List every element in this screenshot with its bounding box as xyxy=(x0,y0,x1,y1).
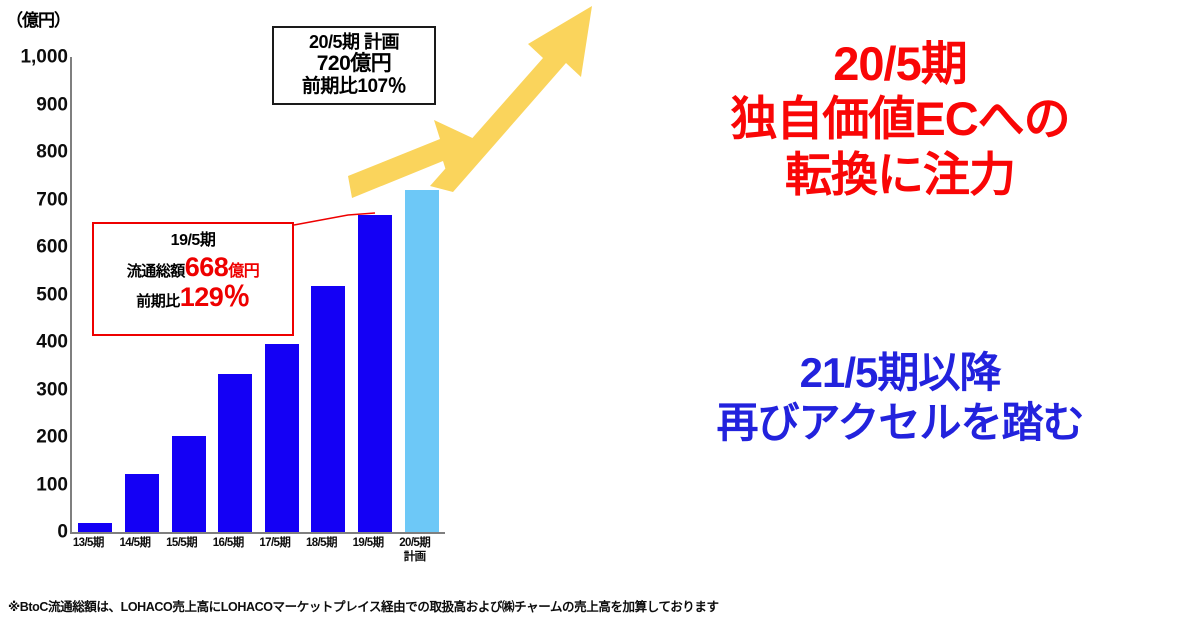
actual-callout-line3-prefix: 前期比 xyxy=(136,293,180,310)
slide-root: （億円） 1,0009008007006005004003002001000 1… xyxy=(0,0,1200,630)
x-tick-sublabel: 計画 xyxy=(391,550,439,564)
x-tick-13-5期: 13/5期 xyxy=(64,536,112,550)
x-tick-17-5期: 17/5期 xyxy=(251,536,299,550)
headline-red: 20/5期 独自価値ECへの 転換に注力 xyxy=(600,36,1200,202)
bar-17-5期 xyxy=(265,344,299,532)
plan-callout-line2: 720億円 xyxy=(278,52,430,76)
footnote: ※BtoC流通総額は、LOHACO売上高にLOHACOマーケットプレイス経由での… xyxy=(8,596,1188,615)
y-tick-1000: 1,000 xyxy=(6,48,68,67)
x-tick-15-5期: 15/5期 xyxy=(158,536,206,550)
plan-callout-line3: 前期比107％ xyxy=(278,76,430,97)
headline-red-line1: 20/5期 xyxy=(600,36,1200,91)
actual-callout-line3-value: 129％ xyxy=(180,282,250,312)
y-tick-600: 600 xyxy=(6,238,68,257)
y-tick-900: 900 xyxy=(6,95,68,114)
bar-15-5期 xyxy=(172,436,206,532)
y-tick-300: 300 xyxy=(6,380,68,399)
headline-red-line3: 転換に注力 xyxy=(600,147,1200,202)
message-panel: 20/5期 独自価値ECへの 転換に注力 21/5期以降 再びアクセルを踏む xyxy=(600,0,1200,630)
plan-callout-line1: 20/5期 計画 xyxy=(278,32,430,52)
y-tick-800: 800 xyxy=(6,143,68,162)
x-tick-14-5期: 14/5期 xyxy=(111,536,159,550)
headline-red-line2: 独自価値ECへの xyxy=(600,91,1200,146)
actual-callout-line2: 流通総額668億円 xyxy=(94,253,292,283)
actual-callout-line2-suffix: 億円 xyxy=(228,263,259,280)
bar-20-5期 xyxy=(405,190,439,532)
headline-blue-line1: 21/5期以降 xyxy=(600,348,1200,398)
x-tick-18-5期: 18/5期 xyxy=(297,536,345,550)
y-axis-unit-label: （億円） xyxy=(6,6,70,31)
bar-16-5期 xyxy=(218,374,252,532)
y-tick-0: 0 xyxy=(6,523,68,542)
actual-callout-line3: 前期比129％ xyxy=(94,283,292,313)
y-tick-500: 500 xyxy=(6,285,68,304)
actual-callout-line2-prefix: 流通総額 xyxy=(127,263,185,280)
y-axis-tick-labels: 1,0009008007006005004003002001000 xyxy=(0,57,68,532)
momentum-arrow-upper xyxy=(430,6,592,192)
headline-blue-line2: 再びアクセルを踏む xyxy=(600,398,1200,448)
y-tick-200: 200 xyxy=(6,428,68,447)
y-tick-400: 400 xyxy=(6,333,68,352)
y-tick-100: 100 xyxy=(6,475,68,494)
bar-14-5期 xyxy=(125,474,159,532)
actual-callout-line1: 19/5期 xyxy=(94,229,292,253)
x-axis-tick-labels: 13/5期14/5期15/5期16/5期17/5期18/5期19/5期20/5期… xyxy=(72,536,445,582)
headline-blue: 21/5期以降 再びアクセルを踏む xyxy=(600,348,1200,449)
x-axis-line xyxy=(70,532,445,534)
actual-callout-line2-value: 668 xyxy=(185,252,229,282)
bar-18-5期 xyxy=(311,286,345,532)
bar-chart: （億円） 1,0009008007006005004003002001000 1… xyxy=(0,0,600,630)
x-tick-20-5期: 20/5期計画 xyxy=(391,536,439,565)
bar-13-5期 xyxy=(78,523,112,532)
x-tick-19-5期: 19/5期 xyxy=(344,536,392,550)
x-tick-16-5期: 16/5期 xyxy=(204,536,252,550)
y-tick-700: 700 xyxy=(6,190,68,209)
plan-callout-box: 20/5期 計画 720億円 前期比107％ xyxy=(272,26,436,105)
bar-19-5期 xyxy=(358,215,392,532)
actual-callout-box: 19/5期 流通総額668億円 前期比129％ xyxy=(92,222,294,336)
